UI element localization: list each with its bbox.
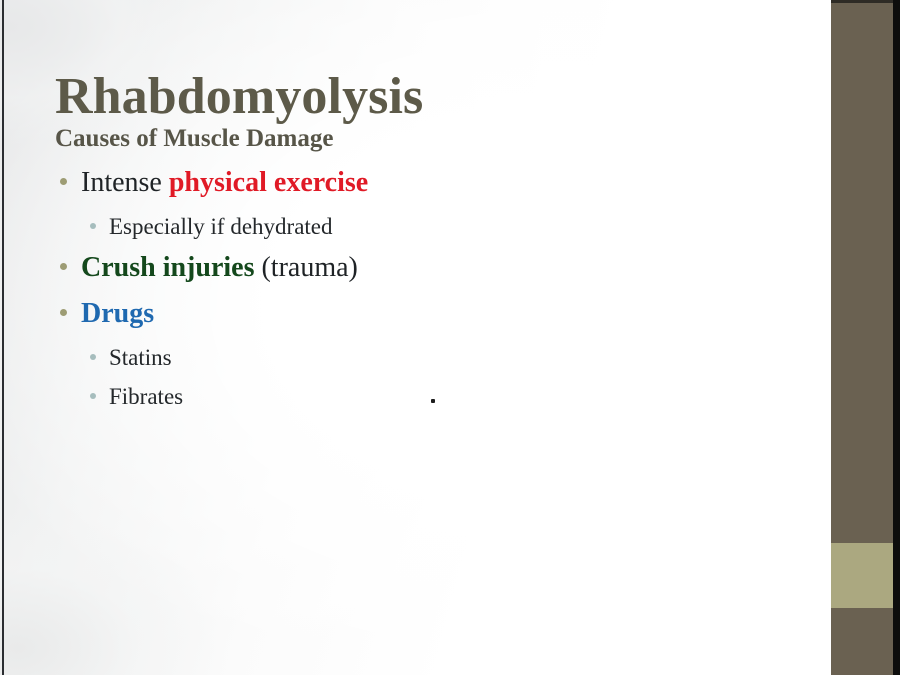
bullet-text: Statins	[109, 339, 172, 376]
bullet-text: Fibrates	[109, 378, 183, 415]
bullet-text: Especially if dehydrated	[109, 208, 333, 245]
bullet-dot-icon	[60, 263, 67, 270]
slide-left-border-rule	[2, 0, 4, 675]
bullet-text: Drugs	[81, 293, 154, 335]
bullet-dot-icon	[90, 223, 96, 229]
bullet-plain-text: Especially if dehydrated	[109, 214, 333, 239]
bullet-text: Crush injuries (trauma)	[81, 247, 358, 289]
bullet-emphasis-text: physical exercise	[169, 167, 368, 198]
bullet-dot-icon	[60, 178, 67, 185]
bullet-plain-text: Intense	[81, 167, 169, 198]
bullet-item-level2: Especially if dehydrated	[90, 208, 760, 245]
slide-right-border-rule	[893, 0, 900, 675]
bullet-item-level2: Fibrates	[90, 378, 760, 415]
slide-title: Rhabdomyolysis	[55, 71, 423, 123]
bullet-plain-text: (trauma)	[254, 252, 357, 283]
bullet-emphasis-text: Crush injuries	[81, 252, 254, 283]
bullet-item-level1: Drugs	[60, 293, 760, 335]
bullet-dot-icon	[60, 309, 67, 316]
bullet-text: Intense physical exercise	[81, 162, 368, 204]
bullet-item-level1: Intense physical exercise	[60, 162, 760, 204]
stray-period-mark	[431, 399, 435, 403]
bullet-plain-text: Statins	[109, 345, 172, 370]
decorative-sidebar-top-rule	[831, 0, 893, 3]
bullet-item-level2: Statins	[90, 339, 760, 376]
slide-subtitle: Causes of Muscle Damage	[55, 126, 333, 151]
bullet-dot-icon	[90, 393, 96, 399]
decorative-sidebar-accent-block	[831, 543, 893, 608]
bullet-dot-icon	[90, 354, 96, 360]
bullet-plain-text: Fibrates	[109, 384, 183, 409]
slide-canvas: Rhabdomyolysis Causes of Muscle Damage I…	[0, 0, 900, 675]
bullet-item-level1: Crush injuries (trauma)	[60, 247, 760, 289]
bullet-emphasis-text: Drugs	[81, 298, 154, 329]
bullet-list: Intense physical exerciseEspecially if d…	[60, 162, 760, 417]
